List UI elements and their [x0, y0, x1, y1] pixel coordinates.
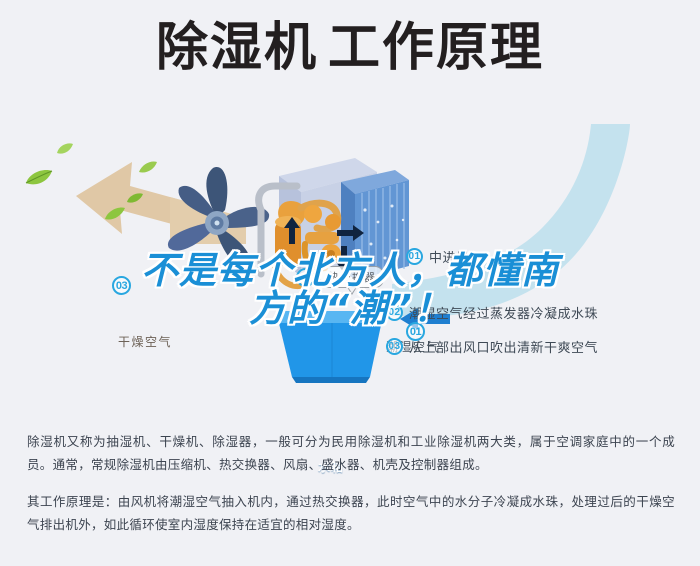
heat-exchanger-callout: 热交换器 [320, 266, 384, 288]
diagram-stage: 水箱 01 02 03 热交换器 干燥空气 潮湿空气 [0, 120, 700, 405]
step-badge: 02 [386, 304, 403, 321]
dry-air-label: 干燥空气 [118, 333, 172, 350]
step-item: 01 中进风 [406, 247, 470, 266]
step-item: 03 从上部出风口吹出清新干爽空气 [386, 337, 598, 356]
paragraph-2: 其工作原理是：由风机将潮湿空气抽入机内，通过热交换器，此时空气中的水分子冷凝成水… [27, 491, 675, 537]
step-text: 从上部出风口吹出清新干爽空气 [409, 337, 598, 356]
page-title: 除湿机工作原理 [0, 22, 700, 74]
water-tank [270, 305, 385, 383]
step-text: 中进风 [429, 247, 470, 266]
title-part-2: 工作原理 [328, 18, 544, 78]
step-badge: 01 [406, 248, 423, 265]
badge-03: 03 [112, 276, 131, 295]
title-part-1: 除湿机 [156, 18, 318, 78]
step-text: 潮湿空气经过蒸发器冷凝成水珠 [409, 303, 598, 322]
step-item: 02 潮湿空气经过蒸发器冷凝成水珠 [386, 303, 598, 322]
leaf-icon [126, 192, 144, 205]
leaf-icon [56, 142, 74, 156]
badge-02: 02 [296, 268, 315, 287]
body-text: 除湿机又称为抽湿机、干燥机、除湿器，一般可分为民用除湿机和工业除湿机两大类，属于… [27, 418, 675, 550]
infographic-page: 除湿机工作原理 [0, 0, 700, 566]
paragraph-1: 除湿机又称为抽湿机、干燥机、除湿器，一般可分为民用除湿机和工业除湿机两大类，属于… [27, 431, 675, 477]
leaf-icon [24, 168, 54, 188]
leaf-icon [104, 206, 126, 222]
step-badge: 03 [386, 338, 403, 355]
